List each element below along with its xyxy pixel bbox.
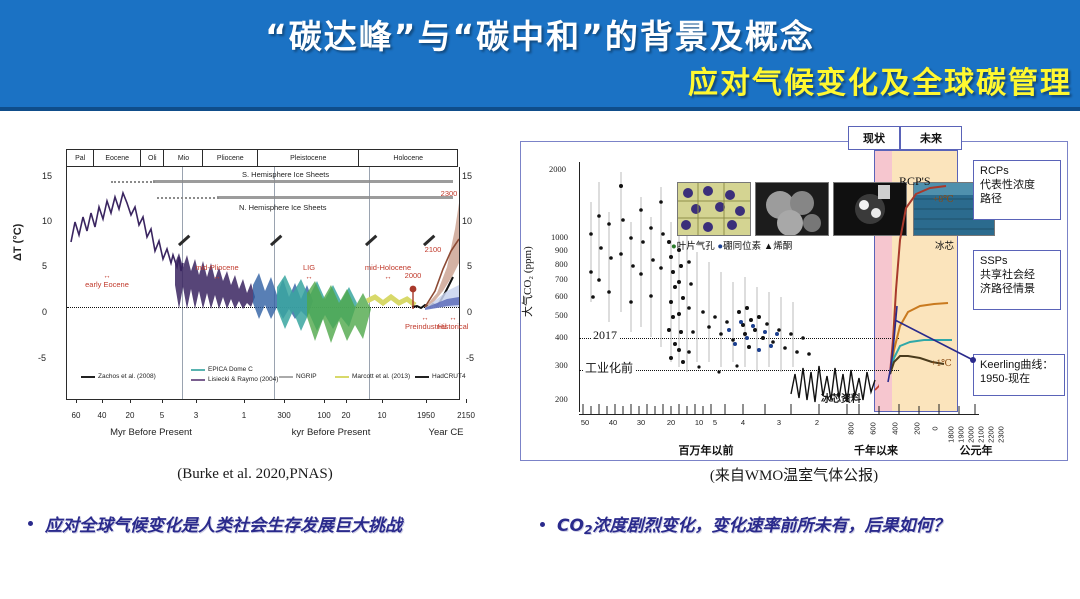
ice-core-data-label: 冰芯资料 <box>821 390 861 405</box>
tab-current-state: 现状 <box>848 126 900 150</box>
callout-line: 1950-现在 <box>980 373 1058 387</box>
legend-item: Lisiecki & Raymo (2004) <box>191 376 278 383</box>
bullet-row: 应对全球气候变化是人类社会生存发展巨大挑战 CO2浓度剧烈变化，变化速率前所未有… <box>0 511 1080 551</box>
callout-title: Keerling曲线： <box>980 359 1058 373</box>
y-tick: 800 <box>555 259 568 269</box>
right-x-ticks <box>579 404 979 414</box>
x-tick: 20 <box>667 418 675 427</box>
bullet-right: CO2浓度剧烈变化，变化速率前所未有，后果如何？ <box>540 511 949 537</box>
x-tick: 600 <box>869 422 878 435</box>
legend-item: Marcott et al. (2013) <box>335 373 410 380</box>
x-section-label: Year CE <box>406 427 486 438</box>
epoch-cell: Eocene <box>94 150 141 166</box>
epoch-cell: Holocene <box>359 150 457 166</box>
legend-item: HadCRUT4 <box>415 373 466 380</box>
proxy-caption-row: ●叶片气孔 ●硼同位素 ▲烯酮 <box>671 238 792 252</box>
x-section-label: kyr Before Present <box>256 427 406 438</box>
epoch-header-bar: Pal Eocene Oli Mio Pliocene Pleistocene … <box>66 149 458 167</box>
epoch-cell: Pal <box>67 150 94 166</box>
x-tick: 3 <box>777 418 781 427</box>
x-tick: 4 <box>741 418 745 427</box>
x-tick: 2200 <box>987 426 996 443</box>
x-tick: 300 <box>277 411 290 420</box>
year-2000-pin <box>407 283 427 333</box>
year-marker: 2000 <box>399 271 427 280</box>
y-tick: 900 <box>555 245 568 255</box>
callout-title: RCPs <box>980 165 1054 179</box>
x-tick: 5 <box>713 418 717 427</box>
y-tick: 10 <box>462 216 472 226</box>
bullet-dot-icon <box>540 522 545 527</box>
epoch-cell: Pleistocene <box>258 150 359 166</box>
micrograph-leaf-stomata <box>677 182 751 236</box>
x-section-label: 百万年以前 <box>631 442 781 458</box>
x-tick: 1800 <box>947 426 956 443</box>
left-x-ticks <box>66 399 458 409</box>
callout-ssps: SSPs 共享社会经 济路径情景 <box>973 250 1061 310</box>
x-tick: 0 <box>931 426 940 430</box>
y-tick: 1000 <box>551 232 568 242</box>
right-y-axis-label: 大气CO₂ (ppm) <box>519 246 535 317</box>
x-tick: 2 <box>815 418 819 427</box>
interval-label: ↔early Eocene <box>81 271 133 289</box>
x-tick: 1900 <box>957 426 966 443</box>
x-tick: 400 <box>891 422 900 435</box>
year-marker: 2100 <box>419 245 447 254</box>
slide-header: “碳达峰”与“碳中和”的背景及概念 应对气候变化及全球碳管理 <box>0 0 1080 110</box>
legend-item: Zachos et al. (2008) <box>81 373 156 380</box>
x-tick: 40 <box>609 418 617 427</box>
epoch-cell: Pliocene <box>203 150 258 166</box>
interval-label: LIG↔ <box>289 263 329 281</box>
x-tick: 200 <box>913 422 922 435</box>
right-figure-caption: (来自WMO温室气体公报) <box>520 464 1068 485</box>
x-tick: 10 <box>378 411 387 420</box>
y-tick: 600 <box>555 291 568 301</box>
x-tick: 3 <box>194 411 198 420</box>
interval-label: mid-Pliocene↔ <box>187 263 247 281</box>
co2-history-chart: 现状 未来 大气CO₂ (ppm) 2000 1000 900 800 700 … <box>520 141 1068 461</box>
callout-line: 路径 <box>980 193 1054 207</box>
callout-line: 共享社会经 <box>980 269 1054 283</box>
y-tick: 5 <box>42 261 47 271</box>
bullet-right-text: CO2浓度剧烈变化，变化速率前所未有，后果如何？ <box>557 511 949 537</box>
legend-item: EPICA Dome C <box>191 366 253 373</box>
x-tick: 10 <box>695 418 703 427</box>
epoch-cell: Mio <box>164 150 203 166</box>
x-tick: 50 <box>581 418 589 427</box>
x-tick: 20 <box>342 411 351 420</box>
legend-item: NGRIP <box>279 373 317 380</box>
bullet-dot-icon <box>28 521 33 526</box>
right-chart-panel: 现状 未来 大气CO₂ (ppm) 2000 1000 900 800 700 … <box>520 141 1068 461</box>
x-tick: 60 <box>72 411 81 420</box>
interval-label: ↔Historical <box>433 313 473 331</box>
rcps-scenario-label: RCP'S <box>899 174 931 189</box>
callout-line: 济路径情景 <box>980 283 1054 297</box>
y-tick: 200 <box>555 394 568 404</box>
bullet-right-rest: 浓度剧烈变化，变化速率前所未有，后果如何？ <box>592 516 949 536</box>
y-tick: 15 <box>462 171 472 181</box>
left-plot-area: S. Hemisphere Ice Sheets N. Hemisphere I… <box>66 167 460 400</box>
y-tick: 500 <box>555 310 568 320</box>
year-marker: 2300 <box>435 189 463 198</box>
temperature-label-high: +8℃ <box>933 194 954 205</box>
callout-keeling: Keerling曲线： 1950-现在 <box>973 354 1065 396</box>
x-tick: 2150 <box>457 411 475 420</box>
y-tick: 10 <box>42 216 52 226</box>
callout-rcps: RCPs 代表性浓度 路径 <box>973 160 1061 220</box>
slide-body: Pal Eocene Oli Mio Pliocene Pleistocene … <box>0 111 1080 599</box>
x-section-label: 千年以来 <box>821 442 931 458</box>
page-title: “碳达峰”与“碳中和”的背景及概念 <box>0 10 1080 58</box>
x-tick: 100 <box>317 411 330 420</box>
y-tick: -5 <box>38 353 46 363</box>
y-tick: 2000 <box>549 164 566 174</box>
x-tick: 2000 <box>967 426 976 443</box>
x-tick: 800 <box>847 422 856 435</box>
y-tick: 400 <box>555 332 568 342</box>
y-tick: -5 <box>466 353 474 363</box>
right-x-axis <box>579 414 979 415</box>
micrograph-boron-isotope <box>755 182 829 236</box>
tab-future: 未来 <box>900 126 962 150</box>
left-chart-panel: Pal Eocene Oli Mio Pliocene Pleistocene … <box>16 141 494 461</box>
left-figure-caption: (Burke et al. 2020,PNAS) <box>16 466 494 483</box>
keeling-leader-line <box>869 320 979 400</box>
x-section-label: 公元年 <box>931 442 1021 458</box>
x-tick: 2100 <box>977 426 986 443</box>
y-tick: 15 <box>42 171 52 181</box>
y-tick: 300 <box>555 360 568 370</box>
x-tick: 1 <box>242 411 246 420</box>
x-tick: 5 <box>160 411 164 420</box>
callout-title: SSPs <box>980 255 1054 269</box>
callout-line: 代表性浓度 <box>980 179 1054 193</box>
co2-formula-prefix: CO <box>557 516 584 536</box>
bullet-left: 应对全球气候变化是人类社会生存发展巨大挑战 <box>28 511 402 536</box>
y-tick: 5 <box>467 261 472 271</box>
paleoclimate-temperature-chart: Pal Eocene Oli Mio Pliocene Pleistocene … <box>16 141 494 461</box>
y-tick: 700 <box>555 274 568 284</box>
x-section-label: Myr Before Present <box>66 427 236 438</box>
x-tick: 30 <box>637 418 645 427</box>
x-tick: 40 <box>98 411 107 420</box>
slide: “碳达峰”与“碳中和”的背景及概念 应对气候变化及全球碳管理 Pal Eocen… <box>0 0 1080 599</box>
bullet-left-text: 应对全球气候变化是人类社会生存发展巨大挑战 <box>45 511 402 536</box>
page-subtitle: 应对气候变化及全球碳管理 <box>688 58 1072 102</box>
y-tick: 0 <box>42 307 47 317</box>
epoch-cell: Oli <box>141 150 164 166</box>
left-y-axis-label: ΔT (°C) <box>12 224 24 261</box>
x-tick: 20 <box>126 411 135 420</box>
x-tick: 2300 <box>997 426 1006 443</box>
x-tick: 1950 <box>417 411 435 420</box>
